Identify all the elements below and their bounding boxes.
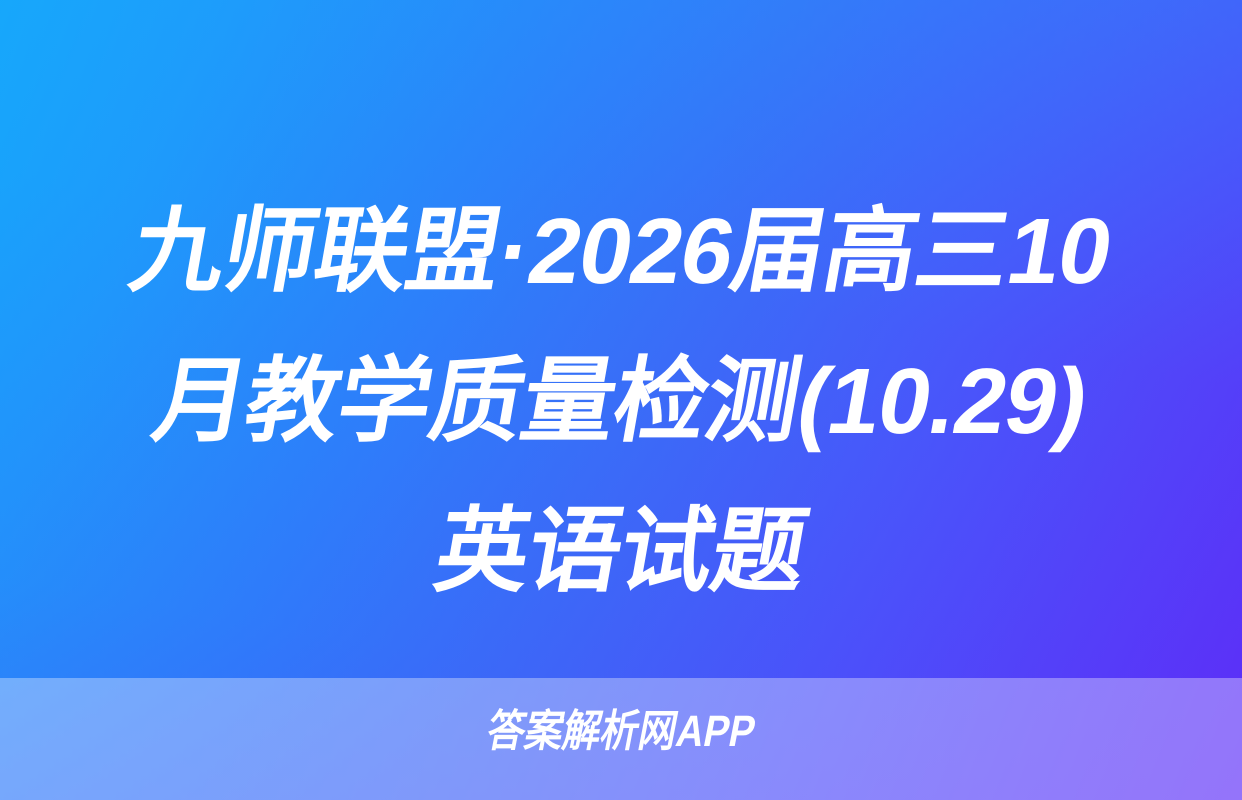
cover-card: 九师联盟·2026届高三10 月教学质量检测(10.29) 英语试题 答案解析网…	[0, 0, 1242, 800]
title-line-1: 九师联盟·2026届高三10	[119, 176, 1124, 326]
title-line-2: 月教学质量检测(10.29)	[142, 326, 1100, 476]
page-title: 九师联盟·2026届高三10 月教学质量检测(10.29) 英语试题	[0, 176, 1242, 626]
watermark: 答案解析网APP	[0, 703, 1242, 761]
title-line-3: 英语试题	[424, 476, 818, 626]
watermark-label: 答案解析网APP	[482, 703, 760, 761]
